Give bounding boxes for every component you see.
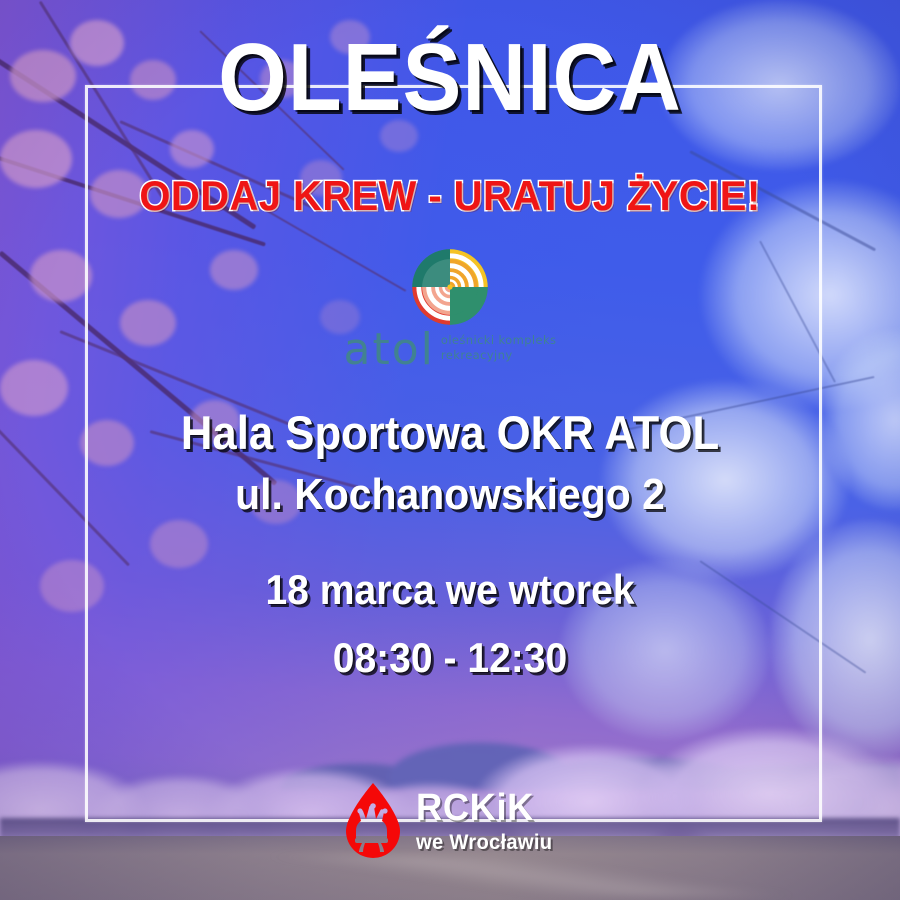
rckik-city: we Wrocławiu	[416, 832, 552, 853]
atol-tagline: oleśnicki kompleks rekreacyjny	[441, 333, 557, 365]
blood-donation-poster: OLEŚNICA ODDAJ KREW - URATUJ ŻYCIE!	[0, 0, 900, 900]
atol-wordmark-text: atol	[344, 324, 435, 375]
rckik-logo: RCKiK we Wrocławiu	[0, 778, 900, 864]
page-title: OLEŚNICA	[36, 26, 864, 130]
atol-tagline-line1: oleśnicki kompleks	[441, 333, 557, 347]
poster-slogan: ODDAJ KREW - URATUJ ŻYCIE!	[23, 172, 878, 220]
blood-drop-icon	[342, 782, 404, 860]
event-date: 18 marca we wtorek	[32, 566, 869, 614]
atol-tagline-line2: rekreacyjny	[441, 348, 513, 362]
rckik-name: RCKiK	[416, 789, 552, 827]
venue-name: Hala Sportowa OKR ATOL	[32, 405, 869, 460]
atol-wordmark: atol oleśnicki kompleks rekreacyjny	[0, 324, 900, 375]
atol-spiral-icon	[409, 246, 491, 328]
rckik-text-block: RCKiK we Wrocławiu	[416, 789, 558, 853]
venue-address: ul. Kochanowskiego 2	[32, 470, 869, 520]
event-time: 08:30 - 12:30	[32, 634, 869, 682]
atol-logo: atol oleśnicki kompleks rekreacyjny	[0, 246, 900, 366]
poster-content: OLEŚNICA ODDAJ KREW - URATUJ ŻYCIE!	[0, 0, 900, 900]
